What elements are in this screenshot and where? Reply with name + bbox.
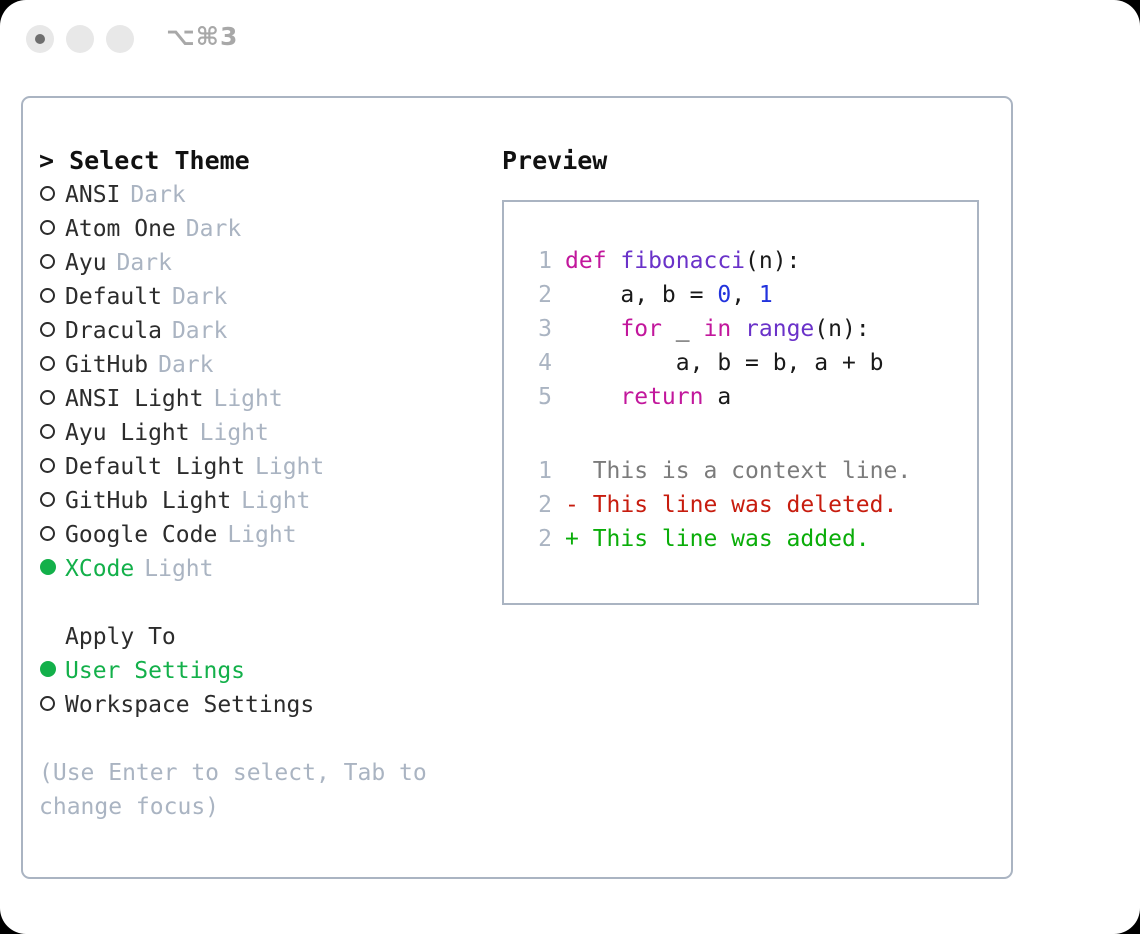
theme-option-label: Ayu: [65, 246, 107, 280]
theme-option-variant-tag: Dark: [186, 212, 241, 246]
theme-option-label: Default Light: [65, 450, 245, 484]
radio-glyph: [40, 220, 55, 235]
code-token-plain: a: [703, 384, 731, 410]
radio-glyph: [40, 322, 55, 337]
radio-glyph: [40, 526, 55, 541]
theme-option-variant-tag: Light: [255, 450, 324, 484]
theme-option-ayu[interactable]: AyuDark: [39, 246, 479, 280]
code-line: 1def fibonacci(n):: [520, 244, 971, 278]
theme-option-dracula[interactable]: DraculaDark: [39, 314, 479, 348]
diff-line-content: - This line was deleted.: [565, 488, 897, 522]
code-token-plain: (n):: [814, 316, 869, 342]
keyboard-hint-text: (Use Enter to select, Tab to change focu…: [39, 756, 439, 824]
code-line-content: for _ in range(n):: [565, 312, 870, 346]
diff-preview: 1 This is a context line.2- This line wa…: [520, 454, 971, 556]
theme-option-github-light[interactable]: GitHub LightLight: [39, 484, 479, 518]
code-token-num: 0: [717, 282, 731, 308]
code-token-kw: for: [620, 316, 662, 342]
preview-title: Preview: [502, 144, 992, 178]
theme-option-github[interactable]: GitHubDark: [39, 348, 479, 382]
theme-option-default[interactable]: DefaultDark: [39, 280, 479, 314]
theme-option-ansi[interactable]: ANSIDark: [39, 178, 479, 212]
code-line-content: return a: [565, 380, 731, 414]
keyboard-shortcut-label: ⌥⌘3: [166, 22, 238, 51]
theme-option-google-code[interactable]: Google CodeLight: [39, 518, 479, 552]
code-token-fn: fibonacci: [620, 248, 745, 274]
code-line-number: 1: [520, 244, 552, 278]
theme-option-label: ANSI Light: [65, 382, 203, 416]
code-token-plain: _: [662, 316, 704, 342]
theme-option-variant-tag: Dark: [158, 348, 213, 382]
code-line-number: 5: [520, 380, 552, 414]
radio-glyph: [40, 661, 56, 677]
code-token-plain: [565, 384, 620, 410]
code-token-num: 1: [759, 282, 773, 308]
apply-to-list: User SettingsWorkspace Settings: [39, 654, 479, 722]
theme-option-label: Dracula: [65, 314, 162, 348]
code-token-kw: def: [565, 248, 620, 274]
theme-option-variant-tag: Dark: [172, 314, 227, 348]
diff-line: 2+ This line was added.: [520, 522, 971, 556]
theme-option-variant-tag: Light: [227, 518, 296, 552]
code-line-number: 2: [520, 278, 552, 312]
diff-line-number: 2: [520, 522, 552, 556]
apply-to-title: Apply To: [39, 620, 479, 654]
code-line: 3 for _ in range(n):: [520, 312, 971, 346]
theme-selection-column: > Select Theme ANSIDarkAtom OneDarkAyuDa…: [39, 144, 479, 824]
theme-option-variant-tag: Dark: [130, 178, 185, 212]
preview-column: Preview 1def fibonacci(n):2 a, b = 0, 13…: [502, 144, 992, 605]
theme-option-variant-tag: Light: [213, 382, 282, 416]
theme-option-label: ANSI: [65, 178, 120, 212]
diff-line: 1 This is a context line.: [520, 454, 971, 488]
title-bar: ⌥⌘3: [0, 0, 1140, 80]
code-token-plain: (n):: [745, 248, 800, 274]
code-token-kw: return: [620, 384, 703, 410]
theme-option-label: Google Code: [65, 518, 217, 552]
radio-glyph: [40, 696, 55, 711]
theme-option-label: Ayu Light: [65, 416, 190, 450]
code-token-kw: in: [703, 316, 731, 342]
apply-to-option-label: User Settings: [65, 654, 245, 688]
code-line-number: 4: [520, 346, 552, 380]
diff-line-content: + This line was added.: [565, 522, 870, 556]
apply-to-section: Apply To User SettingsWorkspace Settings: [39, 620, 479, 722]
diff-line-number: 2: [520, 488, 552, 522]
theme-option-variant-tag: Dark: [117, 246, 172, 280]
code-line: 2 a, b = 0, 1: [520, 278, 971, 312]
theme-option-label: Default: [65, 280, 162, 314]
diff-line: 2- This line was deleted.: [520, 488, 971, 522]
window-dot-three[interactable]: [106, 25, 134, 53]
theme-option-ansi-light[interactable]: ANSI LightLight: [39, 382, 479, 416]
theme-option-label: GitHub: [65, 348, 148, 382]
theme-option-label: GitHub Light: [65, 484, 231, 518]
theme-option-variant-tag: Light: [200, 416, 269, 450]
radio-glyph: [40, 356, 55, 371]
theme-picker-card: > Select Theme ANSIDarkAtom OneDarkAyuDa…: [21, 96, 1013, 879]
code-line-content: a, b = b, a + b: [565, 346, 884, 380]
code-line: 4 a, b = b, a + b: [520, 346, 971, 380]
code-token-plain: ,: [731, 282, 759, 308]
theme-option-variant-tag: Light: [144, 552, 213, 586]
radio-glyph: [40, 424, 55, 439]
theme-option-xcode[interactable]: XCodeLight: [39, 552, 479, 586]
code-token-fn: range: [745, 316, 814, 342]
code-line: 5 return a: [520, 380, 971, 414]
radio-glyph: [40, 458, 55, 473]
code-line-content: a, b = 0, 1: [565, 278, 773, 312]
radio-glyph: [40, 254, 55, 269]
radio-glyph: [40, 492, 55, 507]
code-line-number: 3: [520, 312, 552, 346]
code-line-content: def fibonacci(n):: [565, 244, 800, 278]
theme-option-variant-tag: Dark: [172, 280, 227, 314]
page-title: > Select Theme: [39, 144, 479, 178]
theme-option-default-light[interactable]: Default LightLight: [39, 450, 479, 484]
radio-glyph: [40, 559, 56, 575]
code-token-plain: [731, 316, 745, 342]
apply-to-option-label: Workspace Settings: [65, 688, 314, 722]
window-dot-two[interactable]: [66, 25, 94, 53]
code-token-plain: a, b =: [565, 282, 717, 308]
code-token-plain: [565, 316, 620, 342]
code-preview: 1def fibonacci(n):2 a, b = 0, 13 for _ i…: [520, 244, 971, 414]
window-record-dot-core: [35, 34, 45, 44]
theme-option-label: Atom One: [65, 212, 176, 246]
theme-option-atom-one[interactable]: Atom OneDark: [39, 212, 479, 246]
theme-option-variant-tag: Light: [241, 484, 310, 518]
theme-list: ANSIDarkAtom OneDarkAyuDarkDefaultDarkDr…: [39, 178, 479, 586]
theme-option-label: XCode: [65, 552, 134, 586]
preview-box: 1def fibonacci(n):2 a, b = 0, 13 for _ i…: [502, 200, 979, 605]
diff-line-content: This is a context line.: [565, 454, 911, 488]
code-token-plain: a, b = b, a + b: [565, 350, 884, 376]
app-window: ⌥⌘3 > Select Theme ANSIDarkAtom OneDarkA…: [0, 0, 1140, 934]
radio-glyph: [40, 186, 55, 201]
apply-to-option-workspace-settings[interactable]: Workspace Settings: [39, 688, 479, 722]
diff-line-number: 1: [520, 454, 552, 488]
theme-option-ayu-light[interactable]: Ayu LightLight: [39, 416, 479, 450]
apply-to-option-user-settings[interactable]: User Settings: [39, 654, 479, 688]
radio-glyph: [40, 288, 55, 303]
radio-glyph: [40, 390, 55, 405]
